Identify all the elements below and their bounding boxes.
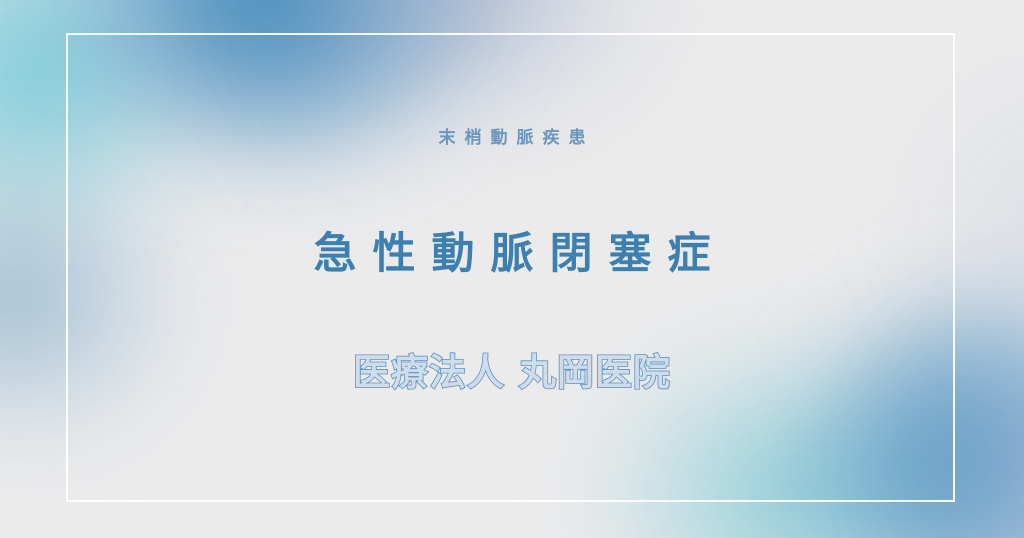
slide-title: 急性動脈閉塞症 [298,233,727,276]
slide-subtitle: 末梢動脈疾患 [430,130,595,147]
title-slide: 末梢動脈疾患 急性動脈閉塞症 医療法人 丸岡医院 [0,0,1024,538]
organization-name: 医療法人 丸岡医院 [353,354,671,391]
title-content-stack: 末梢動脈疾患 急性動脈閉塞症 医療法人 丸岡医院 [0,0,1024,538]
